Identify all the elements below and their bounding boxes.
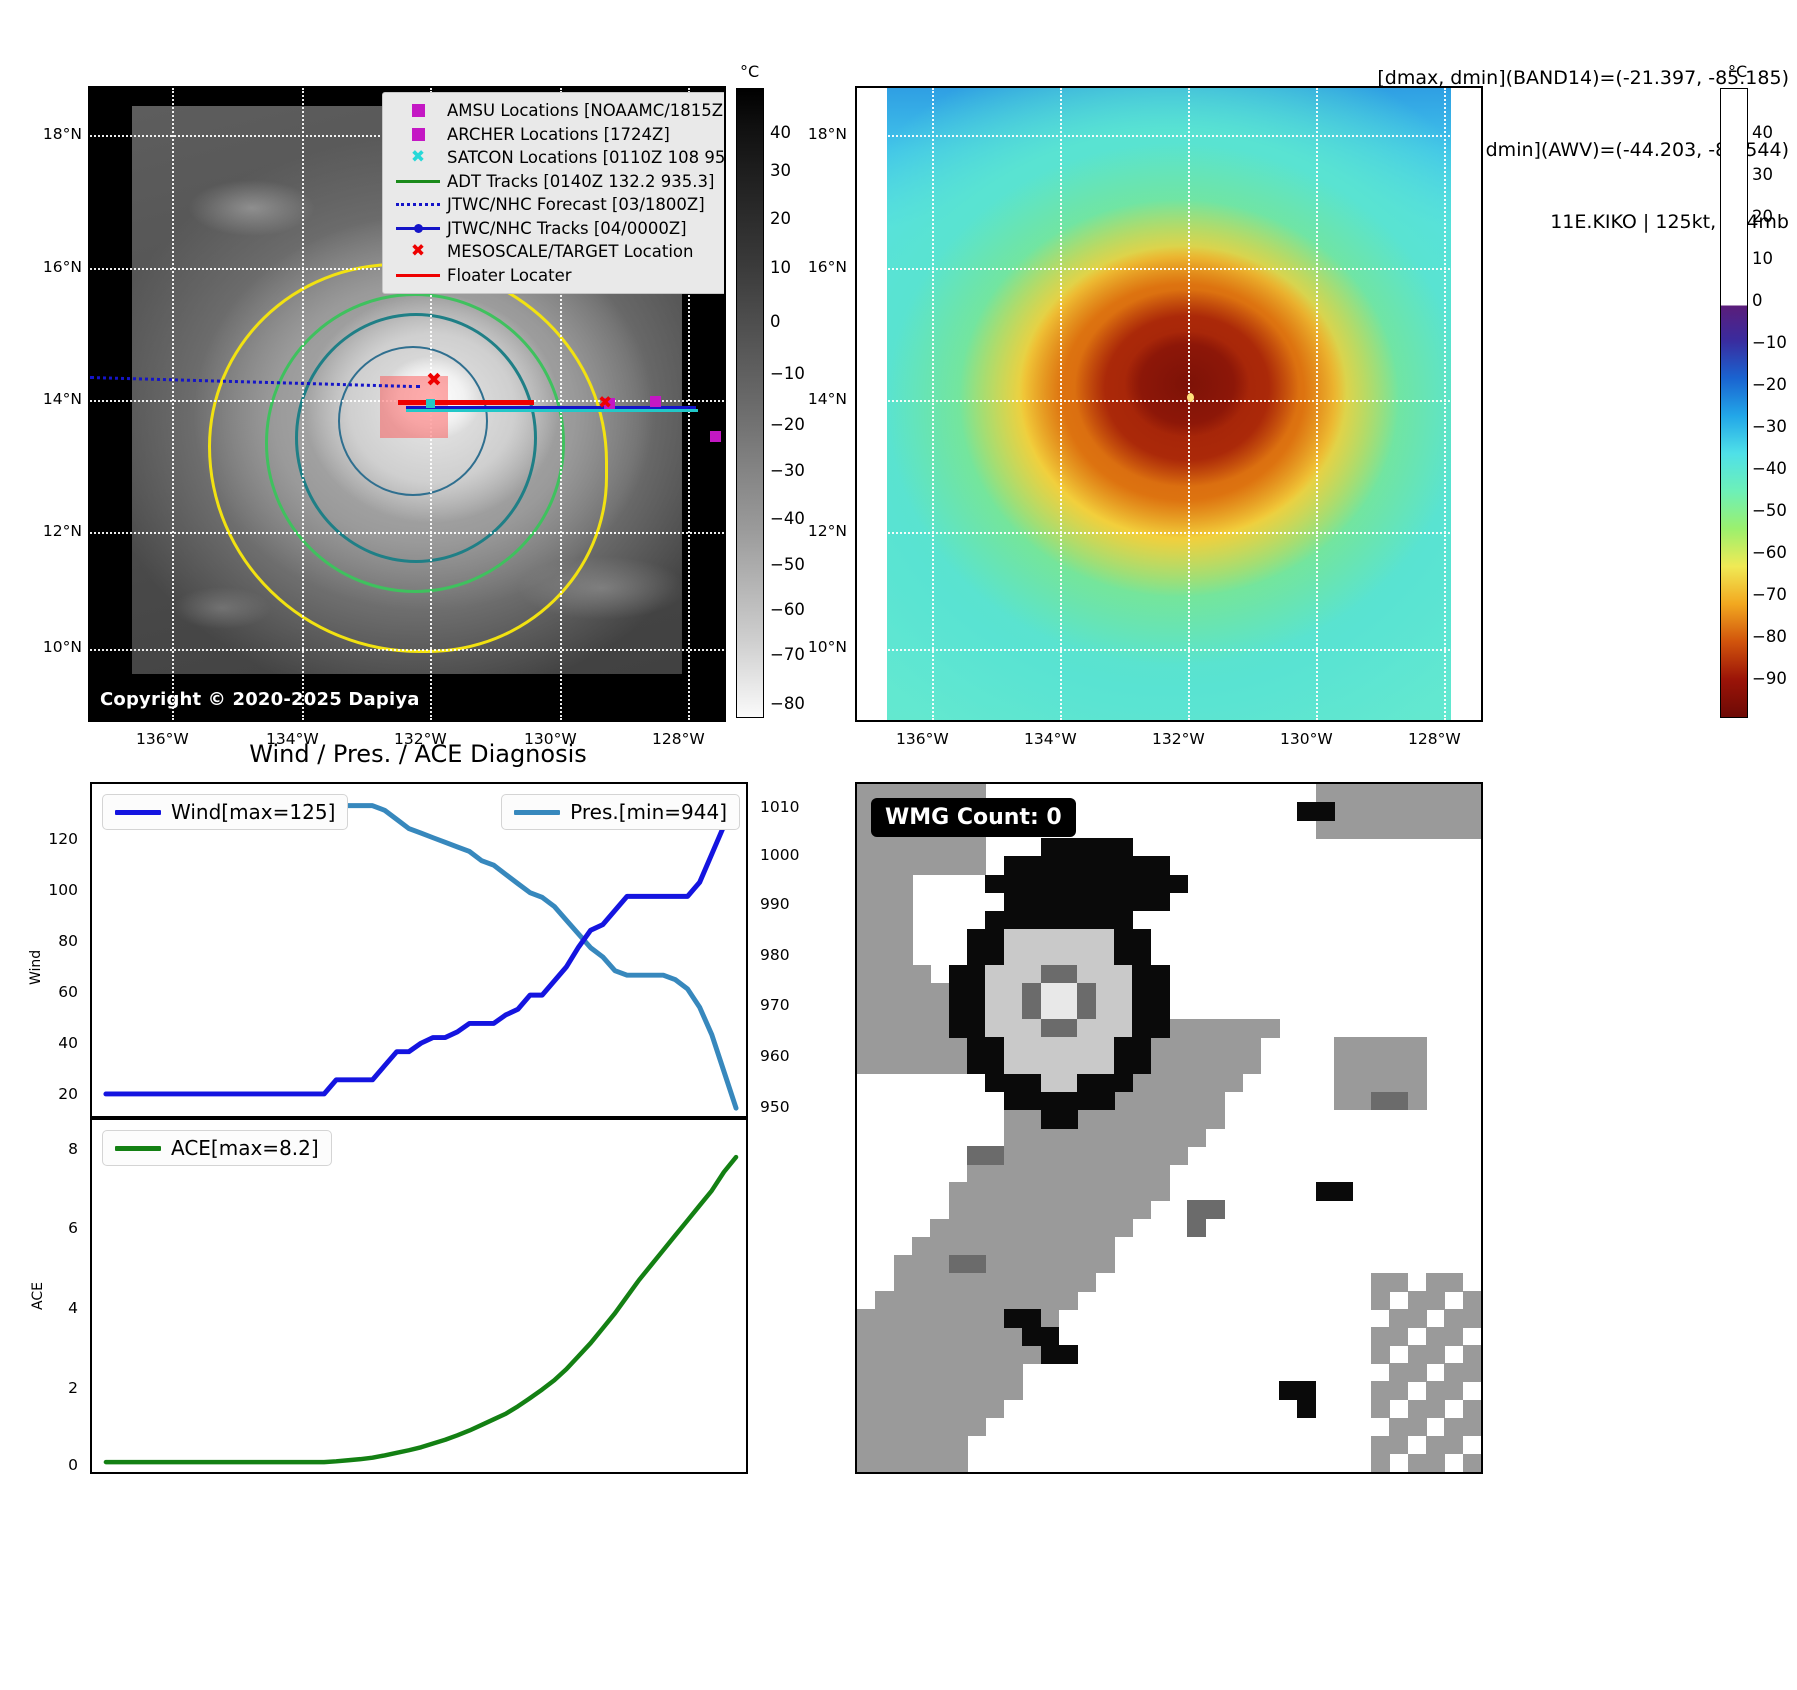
wmg-cell <box>1444 1363 1463 1382</box>
wmg-cell <box>857 947 876 966</box>
ace-tick-8: 8 <box>28 1140 78 1158</box>
wmg-cell <box>875 911 894 930</box>
wmg-cell <box>967 1056 986 1075</box>
wmg-cell <box>1132 1164 1151 1183</box>
wmg-cell <box>1077 893 1096 912</box>
wmg-cell <box>1041 1237 1060 1256</box>
wmg-cell <box>1132 1146 1151 1165</box>
wmg-cell <box>912 1345 931 1364</box>
wmg-cell <box>1444 784 1463 803</box>
wmg-cell <box>1353 1056 1372 1075</box>
wmg-cell <box>1444 802 1463 821</box>
wmg-cell <box>1096 965 1115 984</box>
amsu-marker-2 <box>650 396 661 407</box>
wmg-cell <box>949 1327 968 1346</box>
wmg-cell <box>1059 1110 1078 1129</box>
wmg-cell <box>1242 1019 1261 1038</box>
wmg-cell <box>1389 1327 1408 1346</box>
wmg-cell <box>1389 1309 1408 1328</box>
wmg-cell <box>1059 1345 1078 1364</box>
wmg-cell <box>1426 802 1445 821</box>
wmg-cell <box>1371 1436 1390 1455</box>
wmg-cell <box>1059 1237 1078 1256</box>
wmg-cell <box>1096 1237 1115 1256</box>
wmg-cell <box>857 983 876 1002</box>
wmg-cell <box>1004 1309 1023 1328</box>
wmg-cell <box>1004 929 1023 948</box>
wmg-cell <box>967 965 986 984</box>
wmg-cell <box>967 1418 986 1437</box>
wmg-cell <box>1187 1056 1206 1075</box>
wmg-cell <box>1059 1200 1078 1219</box>
awv-lon-tick-128: 128°W <box>1408 730 1461 748</box>
wmg-cell <box>1077 875 1096 894</box>
wmg-cell <box>894 1363 913 1382</box>
wmg-cell <box>1426 820 1445 839</box>
wmg-cell <box>1426 1454 1445 1473</box>
wmg-cell <box>894 1309 913 1328</box>
wmg-cell <box>1041 1345 1060 1364</box>
adt-marker: ✖ <box>598 395 612 412</box>
wmg-cell <box>1096 911 1115 930</box>
wmg-cell <box>894 1019 913 1038</box>
wmg-cell <box>967 1327 986 1346</box>
wmg-cell <box>1463 1418 1482 1437</box>
wmg-cell <box>949 1273 968 1292</box>
wmg-cell <box>1187 1128 1206 1147</box>
wmg-cell <box>894 856 913 875</box>
wmg-cell <box>1169 1074 1188 1093</box>
awv-colorbar-unit: °C <box>1728 62 1747 81</box>
wmg-cell <box>949 1436 968 1455</box>
wmg-cell <box>1114 1146 1133 1165</box>
wmg-cell <box>894 1454 913 1473</box>
wmg-cell <box>875 1363 894 1382</box>
wmg-cell <box>1059 1128 1078 1147</box>
wmg-cell <box>1316 820 1335 839</box>
wmg-cell <box>1132 1182 1151 1201</box>
wmg-cell <box>894 1381 913 1400</box>
wmg-cell <box>1426 1273 1445 1292</box>
wmg-cell <box>875 965 894 984</box>
wmg-cell <box>967 1019 986 1038</box>
awv-cb-tick-m40: −40 <box>1752 459 1787 478</box>
wmg-cell <box>1408 802 1427 821</box>
wmg-cell <box>967 947 986 966</box>
wmg-cell <box>1022 965 1041 984</box>
wmg-cell <box>875 1291 894 1310</box>
wmg-cell <box>967 1219 986 1238</box>
wmg-cell <box>1004 947 1023 966</box>
awv-mask-right <box>1451 88 1481 720</box>
wmg-cell <box>930 1019 949 1038</box>
wmg-cell <box>1022 1237 1041 1256</box>
awv-cb-tick-10: 10 <box>1752 249 1773 268</box>
wmg-cell <box>857 856 876 875</box>
ace-tick-2: 2 <box>28 1379 78 1397</box>
wmg-cell <box>967 1255 986 1274</box>
wmg-cell <box>930 1454 949 1473</box>
wmg-cell <box>857 1381 876 1400</box>
wmg-cell <box>1114 965 1133 984</box>
wmg-cell <box>912 1037 931 1056</box>
wmg-cell <box>985 1146 1004 1165</box>
wmg-cell <box>1041 1182 1060 1201</box>
wmg-cell <box>875 1345 894 1364</box>
wmg-cell <box>1004 1200 1023 1219</box>
wmg-cell <box>1353 1074 1372 1093</box>
wmg-cell <box>1041 1074 1060 1093</box>
wmg-cell <box>1114 1074 1133 1093</box>
wmg-cell <box>1206 1019 1225 1038</box>
ir-cb-tick-m60: −60 <box>770 600 805 619</box>
wmg-cell <box>1426 1400 1445 1419</box>
wmg-cell <box>1096 856 1115 875</box>
awv-satellite-panel[interactable] <box>855 86 1483 722</box>
ace-legend-line-icon <box>115 1146 161 1151</box>
wmg-cell <box>875 1418 894 1437</box>
ir-lat-tick-18: 18°N <box>20 125 82 143</box>
ir-image-mask-left <box>90 88 132 720</box>
wmg-cell <box>1169 875 1188 894</box>
wmg-cell <box>1041 1019 1060 1038</box>
wmg-cell <box>1022 1345 1041 1364</box>
ir-legend[interactable]: AMSU Locations [NOAAMC/1815Z 104 973] AR… <box>382 92 726 294</box>
wmg-cell <box>1132 929 1151 948</box>
ace-legend-label: ACE[max=8.2] <box>171 1136 319 1160</box>
wmg-cell <box>949 1182 968 1201</box>
wmg-cell <box>1022 1164 1041 1183</box>
wmg-cell <box>949 1381 968 1400</box>
wmg-cell <box>967 1345 986 1364</box>
wmg-cell <box>1389 1436 1408 1455</box>
wmg-cell <box>949 1400 968 1419</box>
wmg-cell <box>1408 1309 1427 1328</box>
ace-chart[interactable]: ACE[max=8.2] <box>90 1118 748 1474</box>
wmg-cell <box>1444 1418 1463 1437</box>
wmg-cell <box>1059 983 1078 1002</box>
wmg-cell <box>949 965 968 984</box>
awv-lon-tick-136: 136°W <box>896 730 949 748</box>
wmg-cell <box>1022 1182 1041 1201</box>
wmg-cell <box>1059 1146 1078 1165</box>
wmg-cell <box>1334 820 1353 839</box>
wmg-cell <box>1426 1345 1445 1364</box>
wmg-cell <box>1041 929 1060 948</box>
wmg-cell <box>1041 911 1060 930</box>
wmg-cell <box>1041 1327 1060 1346</box>
wmg-cell <box>1077 1092 1096 1111</box>
pressure-tick-960: 960 <box>760 1047 790 1065</box>
wmg-cell <box>1114 1001 1133 1020</box>
wmg-cell <box>1151 983 1170 1002</box>
wmg-cell <box>949 1001 968 1020</box>
wmg-cell <box>1077 1037 1096 1056</box>
wmg-cell <box>1077 1056 1096 1075</box>
wmg-cell <box>1408 1291 1427 1310</box>
awv-colorbar[interactable] <box>1720 88 1748 718</box>
wmg-cell <box>930 1436 949 1455</box>
wmg-cell <box>894 1001 913 1020</box>
wmg-cell <box>1224 1019 1243 1038</box>
wmg-cell <box>912 1381 931 1400</box>
awv-cb-tick-m10: −10 <box>1752 333 1787 352</box>
wmg-cell <box>1022 1074 1041 1093</box>
wmg-cell <box>930 1400 949 1419</box>
awv-lat-tick-16: 16°N <box>785 258 847 276</box>
wmg-cell <box>1132 1001 1151 1020</box>
wmg-cell <box>1059 1164 1078 1183</box>
awv-lat-tick-10: 10°N <box>785 638 847 656</box>
legend-item-archer[interactable]: ARCHER Locations [1724Z] <box>391 123 726 147</box>
wmg-cell <box>1114 856 1133 875</box>
wmg-cell <box>1334 1182 1353 1201</box>
ir-colorbar[interactable] <box>736 88 764 718</box>
pressure-series-line <box>106 806 736 1108</box>
wmg-cell <box>1334 1056 1353 1075</box>
wmg-cell <box>985 1255 1004 1274</box>
wmg-cell <box>1151 1019 1170 1038</box>
wmg-cell <box>894 965 913 984</box>
wmg-cell <box>875 1400 894 1419</box>
wmg-cell <box>1408 1454 1427 1473</box>
wmg-cell <box>1151 1074 1170 1093</box>
wmg-cell <box>1059 965 1078 984</box>
wmg-cell <box>1371 1454 1390 1473</box>
legend-item-satcon[interactable]: ✖ SATCON Locations [0110Z 108 954] <box>391 146 726 170</box>
wmg-cell <box>985 947 1004 966</box>
wmg-cell <box>1151 1146 1170 1165</box>
ir-cb-tick-m20: −20 <box>770 415 805 434</box>
wmg-cell <box>857 1309 876 1328</box>
awv-cb-tick-m20: −20 <box>1752 375 1787 394</box>
wmg-cell <box>894 1436 913 1455</box>
wmg-cell <box>894 1400 913 1419</box>
wmg-cell <box>949 1418 968 1437</box>
ir-cb-tick-m30: −30 <box>770 461 805 480</box>
wmg-cell <box>912 1291 931 1310</box>
wmg-cell <box>1444 1381 1463 1400</box>
ace-tick-4: 4 <box>28 1299 78 1317</box>
wmg-count-badge: WMG Count: 0 <box>871 798 1076 837</box>
wmg-cell <box>857 911 876 930</box>
wmg-cell <box>894 911 913 930</box>
wmg-cell <box>1004 1128 1023 1147</box>
wmg-cell <box>1224 1037 1243 1056</box>
wmg-cell <box>1187 1200 1206 1219</box>
wmg-panel[interactable]: WMG Count: 0 <box>855 782 1483 1474</box>
wmg-cell <box>1022 893 1041 912</box>
ir-lat-tick-10: 10°N <box>20 638 82 656</box>
wmg-cell <box>1463 784 1482 803</box>
wmg-cell <box>985 1164 1004 1183</box>
wmg-cell <box>930 856 949 875</box>
awv-lat-tick-12: 12°N <box>785 522 847 540</box>
wmg-cell <box>1206 1200 1225 1219</box>
wmg-cell <box>1004 965 1023 984</box>
wmg-cell <box>1096 1110 1115 1129</box>
wmg-cell <box>1041 1200 1060 1219</box>
wmg-cell <box>1096 1182 1115 1201</box>
wmg-cell <box>1114 1164 1133 1183</box>
wmg-cell <box>985 1074 1004 1093</box>
wmg-cell <box>1041 965 1060 984</box>
wmg-cell <box>1389 802 1408 821</box>
wmg-cell <box>1077 1273 1096 1292</box>
wmg-cell <box>930 1345 949 1364</box>
wmg-cell <box>1297 1400 1316 1419</box>
wmg-cell <box>1004 1255 1023 1274</box>
awv-lat-tick-14: 14°N <box>785 390 847 408</box>
wmg-cell <box>1334 802 1353 821</box>
wmg-cell <box>1426 1327 1445 1346</box>
pressure-tick-950: 950 <box>760 1098 790 1116</box>
wmg-cell <box>1242 1056 1261 1075</box>
wmg-cell <box>875 1056 894 1075</box>
wmg-cell <box>1169 1110 1188 1129</box>
wmg-cell <box>1353 820 1372 839</box>
ir-cb-tick-m80: −80 <box>770 694 805 713</box>
wmg-cell <box>912 1436 931 1455</box>
wmg-cell <box>930 1001 949 1020</box>
wmg-cell <box>1463 802 1482 821</box>
pressure-legend-line-icon <box>514 810 560 815</box>
wmg-cell <box>1022 929 1041 948</box>
awv-cb-tick-0: 0 <box>1752 291 1763 310</box>
wmg-cell <box>1059 1291 1078 1310</box>
wmg-cell <box>1463 1309 1482 1328</box>
ir-cb-tick-m10: −10 <box>770 364 805 383</box>
wmg-cell <box>857 875 876 894</box>
wmg-cell <box>857 1454 876 1473</box>
wmg-cell <box>1444 1327 1463 1346</box>
wmg-cell <box>1077 947 1096 966</box>
ir-colorbar-unit: °C <box>740 62 759 81</box>
wmg-cell <box>1004 1237 1023 1256</box>
adt-track <box>406 409 698 412</box>
wmg-cell <box>1004 1219 1023 1238</box>
wmg-cell <box>1004 983 1023 1002</box>
wmg-cell <box>894 838 913 857</box>
wmg-cell <box>949 1056 968 1075</box>
wmg-cell <box>1004 911 1023 930</box>
wmg-cell <box>1316 802 1335 821</box>
wmg-cell <box>1004 1092 1023 1111</box>
legend-item-forecast[interactable]: JTWC/NHC Forecast [03/1800Z] <box>391 193 726 217</box>
wmg-cell <box>1206 1092 1225 1111</box>
wmg-cell <box>1371 1273 1390 1292</box>
wmg-cell <box>912 1056 931 1075</box>
wind-legend-chip[interactable]: Wind[max=125] <box>102 794 348 830</box>
legend-item-floater[interactable]: Floater Locater <box>391 264 726 288</box>
ace-legend-chip[interactable]: ACE[max=8.2] <box>102 1130 332 1166</box>
wmg-cell <box>857 1001 876 1020</box>
wmg-cell <box>875 929 894 948</box>
wmg-cell <box>930 1037 949 1056</box>
wmg-cell <box>1059 929 1078 948</box>
ir-lat-tick-16: 16°N <box>20 258 82 276</box>
awv-cb-tick-m60: −60 <box>1752 543 1787 562</box>
wind-pressure-chart[interactable]: Wind[max=125] Pres.[min=944] <box>90 782 748 1118</box>
wmg-cell <box>1022 1110 1041 1129</box>
wmg-cell <box>949 983 968 1002</box>
wmg-cell <box>1169 1092 1188 1111</box>
wmg-cell <box>1096 1146 1115 1165</box>
legend-label: AMSU Locations [NOAAMC/1815Z 104 973] <box>445 99 726 123</box>
legend-item-mesoscale[interactable]: ✖ MESOSCALE/TARGET Location <box>391 240 726 264</box>
wmg-cell <box>1151 1001 1170 1020</box>
wmg-cell <box>894 929 913 948</box>
wmg-cell <box>1114 838 1133 857</box>
wmg-cell <box>1041 1219 1060 1238</box>
wmg-cell <box>1371 802 1390 821</box>
wmg-cell <box>1041 1037 1060 1056</box>
legend-item-jtwc-tracks[interactable]: JTWC/NHC Tracks [04/0000Z] <box>391 217 726 241</box>
satcon-marker <box>426 399 435 408</box>
wmg-cell <box>912 1400 931 1419</box>
wmg-cell <box>930 983 949 1002</box>
wmg-cell <box>949 1037 968 1056</box>
wind-tick-60: 60 <box>28 983 78 1001</box>
wmg-cell <box>1077 1164 1096 1183</box>
legend-item-amsu[interactable]: AMSU Locations [NOAAMC/1815Z 104 973] <box>391 99 726 123</box>
wmg-cell <box>1224 1074 1243 1093</box>
legend-item-adt[interactable]: ADT Tracks [0140Z 132.2 935.3] <box>391 170 726 194</box>
wmg-cell <box>894 1418 913 1437</box>
wmg-cell <box>1132 1110 1151 1129</box>
wmg-cell <box>894 1255 913 1274</box>
wmg-cell <box>1114 929 1133 948</box>
wmg-cell <box>1187 1074 1206 1093</box>
wmg-cell <box>1114 1037 1133 1056</box>
wmg-cell <box>1004 1001 1023 1020</box>
wmg-cell <box>1114 947 1133 966</box>
ace-plot-area <box>92 1120 746 1472</box>
wmg-cell <box>1077 856 1096 875</box>
wmg-cell <box>985 1237 1004 1256</box>
wmg-cell <box>1463 1291 1482 1310</box>
wmg-cell <box>912 1327 931 1346</box>
wmg-cell <box>894 1037 913 1056</box>
wmg-cell <box>1077 1255 1096 1274</box>
wmg-cell <box>1077 1182 1096 1201</box>
pressure-legend-chip[interactable]: Pres.[min=944] <box>501 794 740 830</box>
wmg-cell <box>1004 1381 1023 1400</box>
wmg-cell <box>930 1418 949 1437</box>
wmg-cell <box>1334 1092 1353 1111</box>
wmg-cell <box>949 856 968 875</box>
wmg-cell <box>1022 856 1041 875</box>
wmg-cell <box>985 1363 1004 1382</box>
wmg-cell <box>1022 1200 1041 1219</box>
ace-tick-0: 0 <box>28 1456 78 1474</box>
wmg-cell <box>1169 1019 1188 1038</box>
ir-satellite-panel[interactable]: ✖ ✖ Copyright © 2020-2025 Dapiya AMSU Lo… <box>88 86 726 722</box>
wmg-cell <box>949 1454 968 1473</box>
wmg-cell <box>985 1219 1004 1238</box>
wmg-cell <box>930 1291 949 1310</box>
wmg-cell <box>1114 1219 1133 1238</box>
wmg-cell <box>967 1291 986 1310</box>
wmg-cell <box>875 983 894 1002</box>
wmg-cell <box>894 1327 913 1346</box>
awv-lon-tick-132: 132°W <box>1152 730 1205 748</box>
wmg-cell <box>949 1345 968 1364</box>
wmg-cell <box>1059 875 1078 894</box>
wmg-cell <box>1114 1056 1133 1075</box>
wmg-cell <box>1463 1345 1482 1364</box>
wmg-cell <box>1114 983 1133 1002</box>
